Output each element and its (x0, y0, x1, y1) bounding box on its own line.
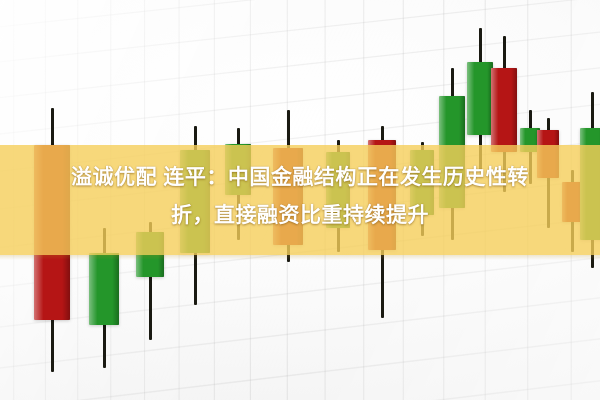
candle-body-up (467, 62, 493, 135)
candle-body-up (89, 253, 119, 325)
headline-line-1: 溢诚优配 连平：中国金融结构正在发生历史性转 (0, 159, 600, 197)
banner-image: 溢诚优配 连平：中国金融结构正在发生历史性转 折，直接融资比重持续提升 (0, 0, 600, 400)
headline-text: 溢诚优配 连平：中国金融结构正在发生历史性转 折，直接融资比重持续提升 (0, 159, 600, 235)
candle-body-down (491, 68, 517, 152)
candle-body-up (136, 232, 164, 277)
headline-line-2: 折，直接融资比重持续提升 (0, 197, 600, 235)
